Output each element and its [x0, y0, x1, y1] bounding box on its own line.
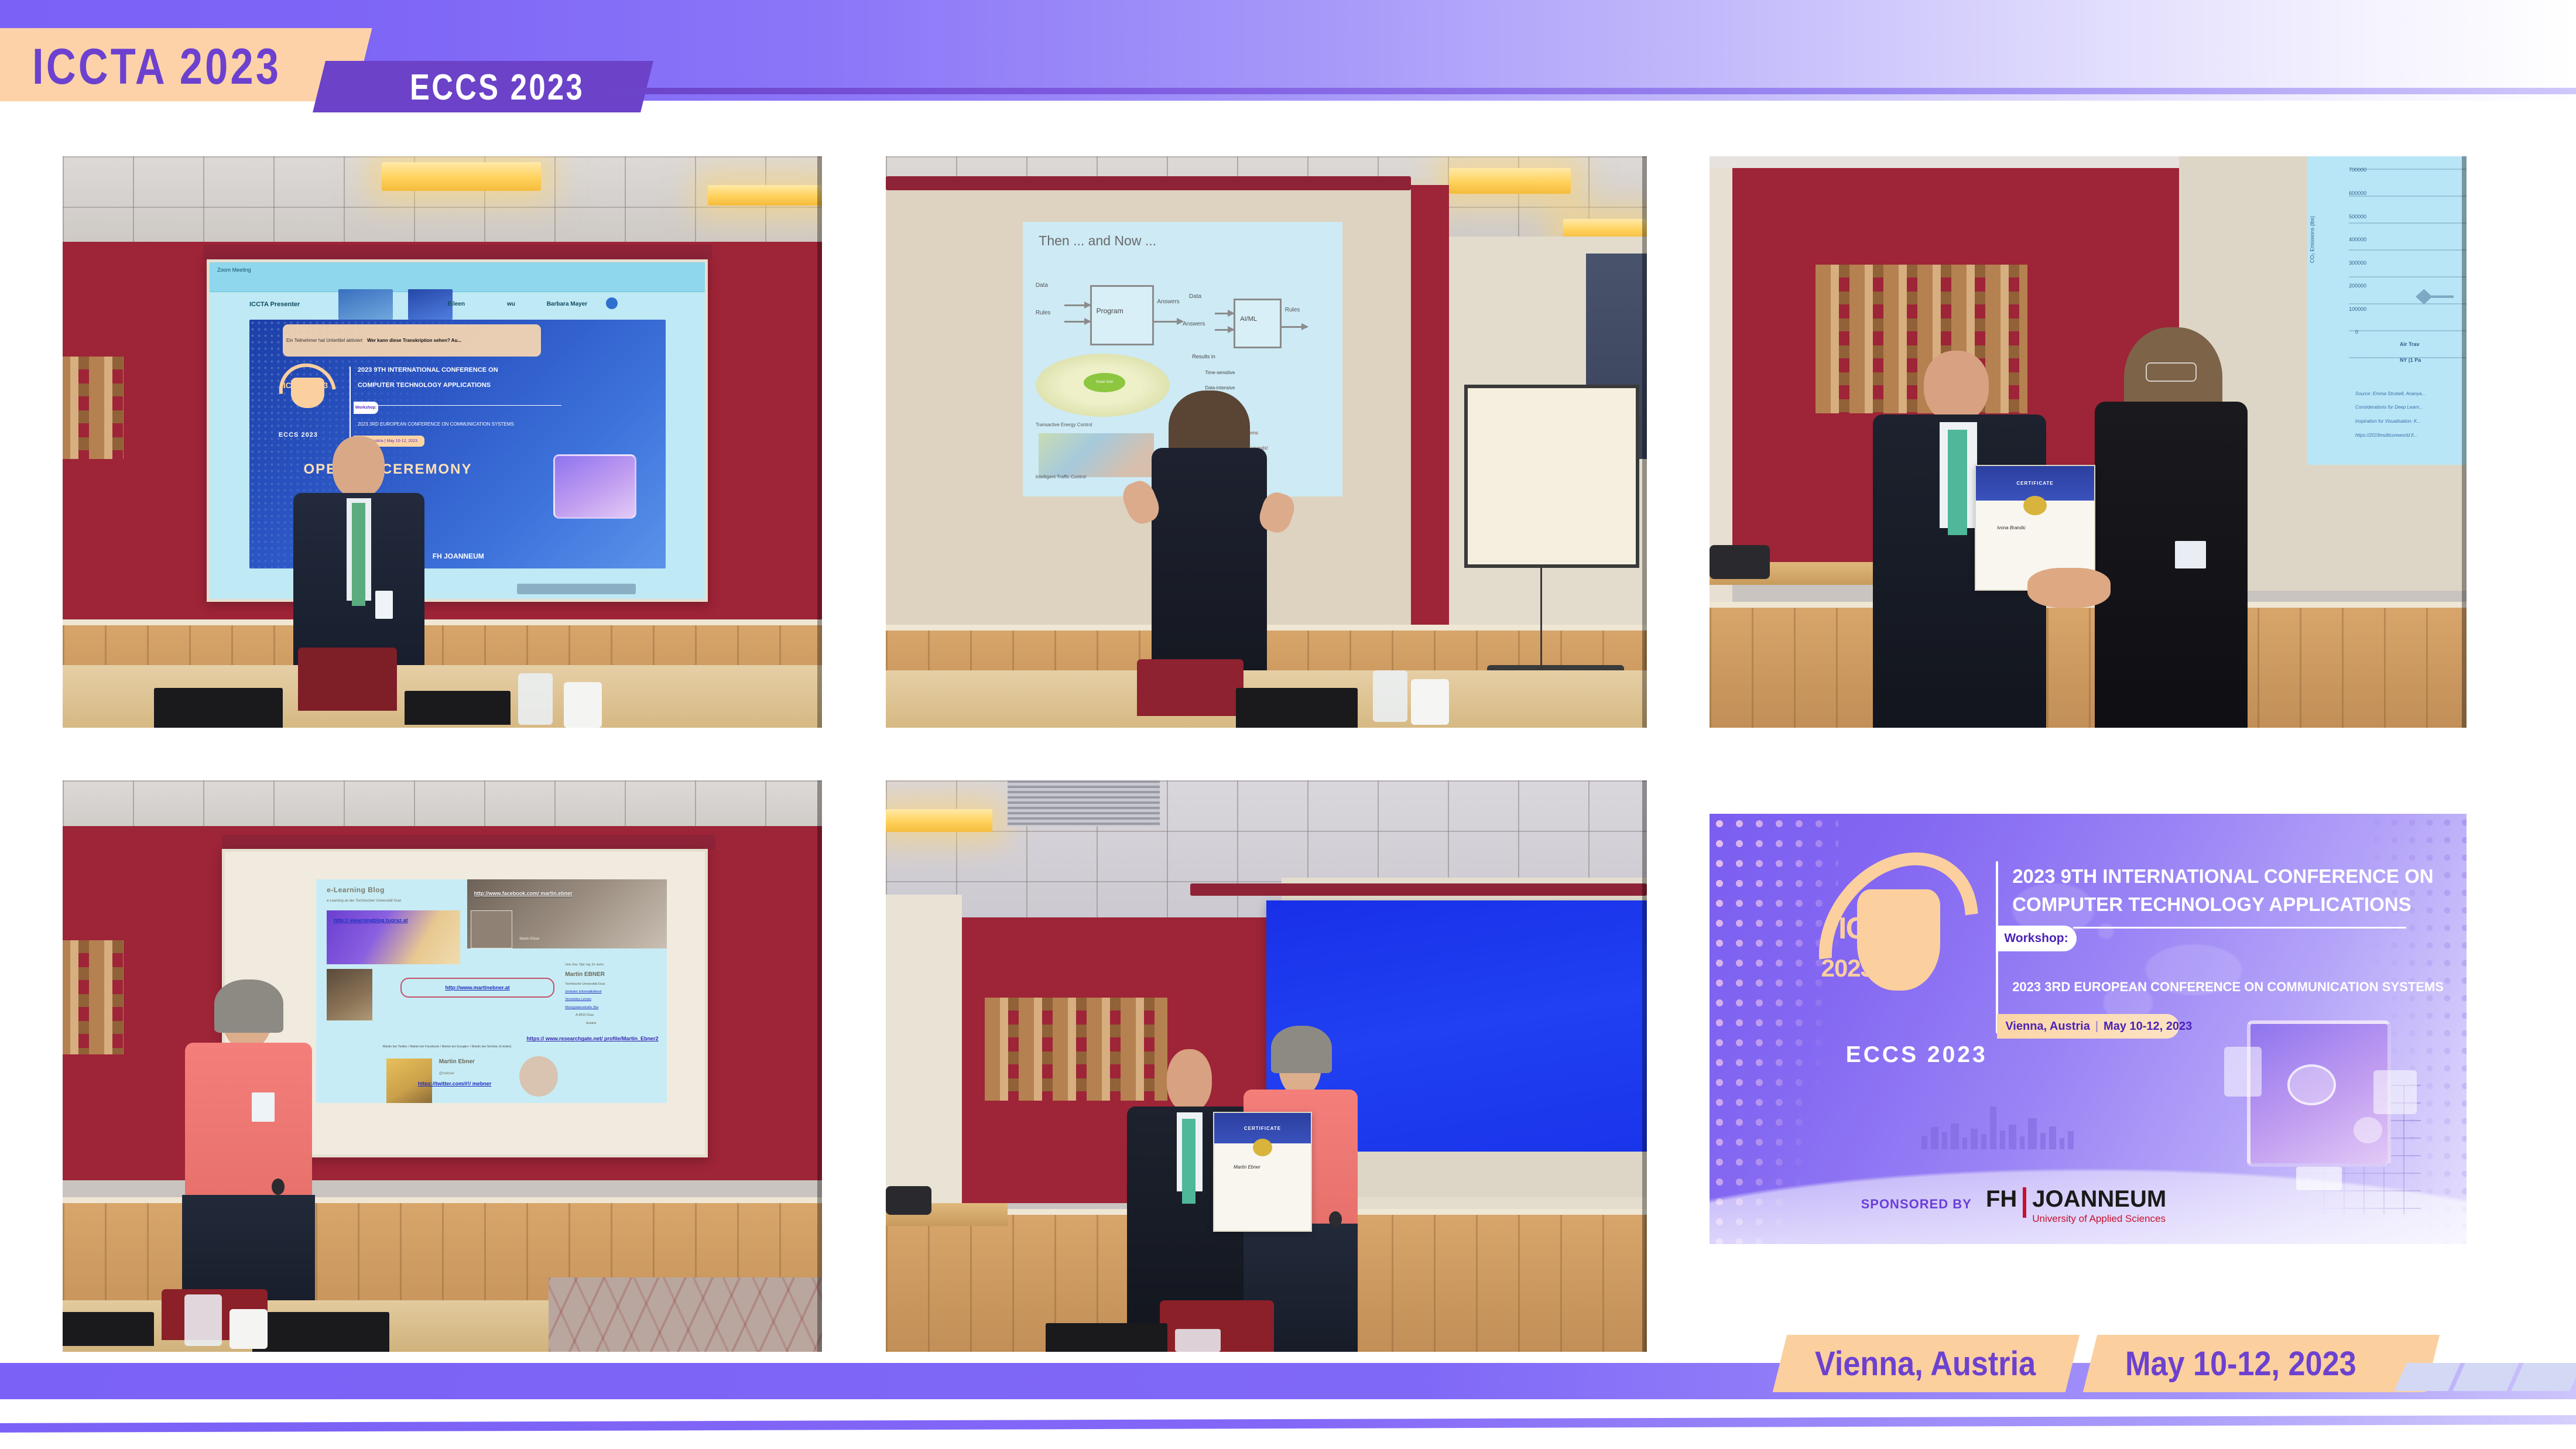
header-eccs-label: ECCS 2023	[410, 66, 635, 109]
photo-certificate-award-martin: CERTIFICATE Martin Ebner	[886, 780, 1647, 1352]
promo-dates: May 10-12, 2023	[2104, 1020, 2192, 1033]
el-twitter-name: Martin Ebner	[439, 1059, 475, 1065]
promo-workshop-label: Workshop:	[1997, 931, 2068, 946]
slide-title: Then ... and Now ...	[1039, 233, 1156, 249]
certificate-recipient: Ivona Brandic	[1997, 525, 2026, 530]
zoom-taskbar	[517, 584, 636, 594]
iccta-logo: ICCTA 2023	[1827, 846, 1971, 1027]
el-social-row: Martin bei Twitter / Martin bei Facebook…	[383, 1045, 512, 1049]
slide-results-header: Results in	[1192, 354, 1215, 359]
co2-ytick-400000: 400000	[2349, 237, 2366, 242]
zoom-participant-barbara: Barbara Mayer	[547, 301, 587, 307]
slide-fig-caption-3: Intelligent Traffic Control	[1036, 474, 1106, 479]
co2-ytick-700000: 700000	[2349, 167, 2366, 173]
zoom-participant-presenter: ICCTA Presenter	[249, 301, 300, 308]
slide-right-input-answers: Answers	[1183, 321, 1205, 327]
deck-title-line1: 2023 9TH INTERNATIONAL CONFERENCE ON	[358, 366, 498, 374]
el-card-unit: Vernetztes Lernen	[565, 998, 591, 1001]
deck-workshop-label: Workshop:	[354, 406, 376, 410]
air-vent	[1008, 780, 1160, 826]
co2-source-3: https://2019multicoreworld.fi...	[2355, 433, 2417, 438]
deck-sponsor-name: FH JOANNEUM	[433, 552, 484, 560]
header-iccta-label: ICCTA 2023	[32, 35, 301, 98]
el-card-name: Martin EBNER	[565, 971, 605, 978]
zoom-app-title: Zoom Meeting	[217, 267, 251, 273]
el-photo-caption-name: Martin Ebner	[519, 937, 539, 941]
venue-pill: Vienna, Austria | May 10-12, 2023	[1997, 1014, 2178, 1039]
eyeglasses-icon	[2146, 362, 2197, 382]
promo-subtitle: 2023 3RD EUROPEAN CONFERENCE ON COMMUNIC…	[2012, 979, 2444, 995]
co2-ytick-100000: 100000	[2349, 306, 2366, 312]
slide-result-0: Time-sensitive	[1205, 370, 1235, 375]
slide-left-output: Answers	[1157, 299, 1179, 305]
el-card-city: A-8010 Graz	[576, 1013, 594, 1017]
slide-left-input-data: Data	[1036, 282, 1048, 289]
photo-keynote-then-and-now: Then ... and Now ... Data Rules Program …	[886, 156, 1647, 728]
promo-venue: Vienna, Austria	[1997, 1020, 2090, 1033]
iccta-logo-text: ICCTA	[1838, 911, 1923, 946]
slide-result-1: Data-intensive	[1205, 385, 1235, 390]
vienna-skyline	[1921, 1107, 2074, 1150]
co2-x-label-line2: NY (1 Pa	[2400, 357, 2421, 363]
promo-venue-separator: |	[2090, 1020, 2104, 1033]
slide-fig-smartgrid-label: Smart Grid	[1096, 381, 1113, 384]
el-card-street: Münzgrabenstraße 35a	[565, 1006, 598, 1009]
deck-title-line2: COMPUTER TECHNOLOGY APPLICATIONS	[358, 382, 491, 389]
projected-elearning-slide: e-Learning Blog e-Learning an der Techni…	[316, 879, 667, 1104]
deck-subtitle: 2023 3RD EUROPEAN CONFERENCE ON COMMUNIC…	[358, 422, 514, 427]
el-twitter-handle: @mebner	[439, 1072, 454, 1075]
slide-right-input-data: Data	[1189, 293, 1201, 300]
footer-date-label: May 10-12, 2023	[2125, 1335, 2413, 1392]
photo-speaker-elearning-blog: e-Learning Blog e-Learning an der Techni…	[63, 780, 822, 1352]
el-card-country: Austria	[586, 1022, 596, 1025]
certificate-seal-icon	[1253, 1139, 1272, 1156]
promo-banner: ICCTA 2023 ECCS 2023 2023 9TH INTERNATIO…	[1710, 814, 2467, 1244]
co2-y-axis-label: CO₂ Emissions (lbs)	[2309, 216, 2315, 263]
fh-joanneum-logo: FH JOANNEUM University of Applied Scienc…	[1986, 1187, 2166, 1225]
el-slide-subtitle: e-Learning an der Technischen Universitä…	[327, 899, 401, 903]
sponsor-name-fh: FH	[1986, 1187, 2017, 1211]
co2-ytick-300000: 300000	[2349, 260, 2366, 266]
co2-source-1: Considerations for Deep Learn...	[2355, 405, 2423, 410]
promo-title-line1: 2023 9TH INTERNATIONAL CONFERENCE ON	[2012, 865, 2433, 888]
co2-ytick-200000: 200000	[2349, 283, 2366, 289]
footer-location-label: Vienna, Austria	[1815, 1335, 2057, 1392]
slide-left-input-rules: Rules	[1036, 310, 1051, 316]
zoom-next-page-icon	[606, 297, 618, 309]
el-link-facebook: http://www.facebook.com/ martin.ebner	[474, 890, 656, 897]
certificate-recipient: Martin Ebner	[1234, 1164, 1260, 1170]
bag	[1710, 545, 1770, 580]
handshake	[2027, 568, 2111, 608]
co2-x-label-line1: Air Trav	[2400, 341, 2420, 347]
conference-photo-collage: ICCTA 2023 ECCS 2023 Zoom Meeting ICCTA …	[0, 0, 2576, 1449]
presenter-badge	[375, 591, 393, 619]
promo-title-line2: COMPUTER TECHNOLOGY APPLICATIONS	[2012, 893, 2411, 916]
flipchart	[1464, 385, 1639, 567]
sponsor-label: SPONSORED BY	[1861, 1197, 1972, 1212]
speaker-badge	[252, 1092, 275, 1122]
projected-zoom-window: Zoom Meeting ICCTA Presenter Onsite DESK…	[210, 262, 705, 600]
bag	[886, 1186, 931, 1215]
name-badge	[2175, 541, 2206, 568]
photo-opening-ceremony: Zoom Meeting ICCTA Presenter Onsite DESK…	[63, 156, 822, 728]
certificate-header: CERTIFICATE	[2016, 481, 2053, 486]
el-card-dept: Zentraler Informatikdienst	[565, 990, 601, 994]
certificate-seal-icon	[2023, 496, 2047, 516]
zoom-caption-notice: Ein Teilnehmer hat Untertitel aktiviert	[283, 338, 362, 343]
sponsor-name-joanneum: JOANNEUM	[2032, 1187, 2166, 1211]
projected-co2-chart: 700000 600000 500000 400000 300000 20000…	[2307, 156, 2467, 465]
footer-rule	[0, 1415, 2576, 1433]
slide-right-box-label: AI/ML	[1240, 316, 1257, 323]
co2-ytick-0: 0	[2355, 329, 2358, 335]
header-rule	[597, 88, 2576, 94]
monitor-illustration	[2247, 1020, 2391, 1167]
el-link-home: http://www.martinebner.at	[445, 985, 509, 991]
iccta-logo-year: 2023	[1821, 954, 1873, 982]
gear-icon	[2354, 1117, 2382, 1143]
el-link-twitter: https://twitter.com/#!/ mebner	[418, 1081, 492, 1087]
photo-certificate-award-ivona: 700000 600000 500000 400000 300000 20000…	[1710, 156, 2467, 728]
play-circle-icon	[2287, 1064, 2337, 1105]
co2-source-2: Inspiration for Visualisation: K...	[2355, 419, 2421, 424]
co2-ytick-500000: 500000	[2349, 214, 2366, 220]
workshop-pill: Workshop:	[1997, 926, 2077, 951]
slide-fig-caption-2: Transactive Energy Control	[1036, 422, 1092, 427]
slide-left-box-label: Program	[1097, 307, 1123, 315]
el-card-title: Univ.-Doz. Dipl.-Ing. Dr. techn.	[565, 963, 604, 967]
wristwatch-icon	[1329, 1211, 1342, 1227]
co2-ytick-600000: 600000	[2349, 190, 2366, 196]
el-slide-title: e-Learning Blog	[327, 886, 385, 894]
el-link-blog: http:// elearningblog.tugraz.at	[334, 917, 453, 924]
certificate-header: CERTIFICATE	[1244, 1126, 1281, 1131]
el-card-org: Technische Universität Graz	[565, 982, 605, 986]
zoom-participant-wu: wu	[507, 301, 515, 307]
zoom-caption-action: Wer kann diese Transkription sehen? Au..…	[362, 338, 461, 343]
slide-right-output: Rules	[1285, 307, 1300, 313]
co2-source-0: Source: Emma Strubell, Ananya...	[2355, 391, 2426, 396]
sponsor-divider	[2023, 1187, 2026, 1218]
el-link-researchgate: https:// www.researchgate.net/ profile/M…	[526, 1036, 666, 1042]
zoom-participant-eileen: Eileen	[448, 301, 465, 307]
workshop-rule	[2073, 927, 2406, 929]
certificate: CERTIFICATE Martin Ebner	[1213, 1112, 1312, 1232]
sponsor-tagline: University of Applied Sciences	[2032, 1213, 2166, 1225]
deck-logo-iccta: ICCTA 2023	[283, 381, 328, 390]
